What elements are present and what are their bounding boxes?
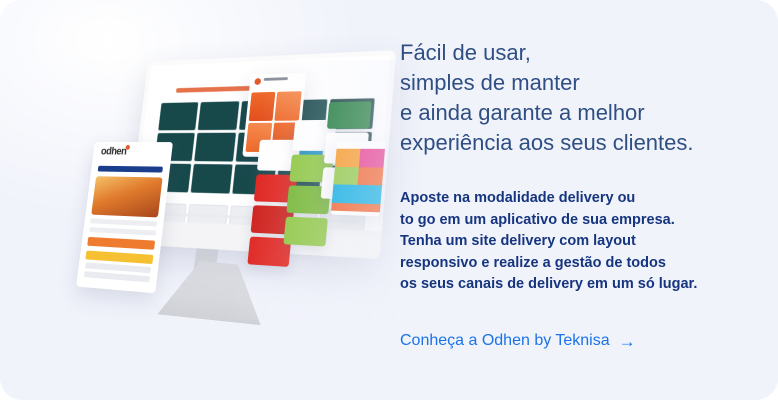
orange-tile xyxy=(274,91,301,121)
phone-app-mockup xyxy=(331,141,386,216)
status-card-green xyxy=(283,217,328,247)
food-photo xyxy=(91,176,162,217)
orange-panel-header xyxy=(249,73,306,90)
brand-mark-icon xyxy=(254,78,261,85)
food-caption-line xyxy=(89,227,156,235)
panel-nav-line xyxy=(84,271,150,282)
order-button xyxy=(87,237,155,250)
paragraph-line-3: Tenha um site delivery com layout xyxy=(400,231,760,253)
menu-panel-mockup: odhen xyxy=(76,142,173,293)
grid-cell xyxy=(198,101,240,130)
secondary-button xyxy=(85,251,153,265)
phone-tile-grid xyxy=(332,149,385,205)
phone-status-bar xyxy=(337,141,386,149)
orange-panel-title xyxy=(264,77,288,81)
grid-cell xyxy=(191,164,233,194)
app-tile xyxy=(357,167,383,186)
odhen-logo-dot xyxy=(125,145,130,150)
headline: Fácil de usar, simples de manter e ainda… xyxy=(400,38,750,158)
odhen-logo: odhen xyxy=(92,142,173,164)
artwork-scene: odhen xyxy=(0,0,400,400)
status-card-dark-green xyxy=(327,101,372,129)
food-caption-line xyxy=(90,218,157,226)
app-tile xyxy=(335,149,360,167)
paragraph-line-2: to go em um aplicativo de sua empresa. xyxy=(400,210,760,232)
app-tile xyxy=(332,185,358,204)
cta-link[interactable]: Conheça a Odhen by Teknisa → xyxy=(400,332,636,350)
phone-footer-bar xyxy=(331,203,380,213)
cta-label: Conheça a Odhen by Teknisa xyxy=(400,332,610,350)
headline-line-3: e ainda garante a melhor xyxy=(400,98,750,128)
arrow-right-icon: → xyxy=(619,333,636,350)
odhen-logo-text: odhen xyxy=(100,147,127,158)
copy-column: Fácil de usar, simples de manter e ainda… xyxy=(400,0,760,400)
headline-line-2: simples de manter xyxy=(400,68,750,98)
app-tile xyxy=(359,149,385,167)
paragraph-line-1: Aposte na modalidade delivery ou xyxy=(400,188,760,210)
orange-tile xyxy=(249,92,276,121)
grid-cell xyxy=(158,102,198,130)
product-artwork: odhen xyxy=(0,0,400,400)
headline-line-1: Fácil de usar, xyxy=(400,38,750,68)
headline-line-4: experiência aos seus clientes. xyxy=(400,128,750,158)
body-paragraph: Aposte na modalidade delivery ou to go e… xyxy=(400,188,760,296)
app-tile xyxy=(333,167,359,186)
promo-banner: odhen xyxy=(0,0,778,400)
monitor-stand-base xyxy=(157,257,266,326)
paragraph-line-4: responsivo e realize a gestão de todos xyxy=(400,253,760,275)
panel-nav-line xyxy=(98,166,163,173)
app-tile xyxy=(356,185,382,204)
paragraph-line-5: os seus canais de delivery em um só luga… xyxy=(400,274,760,296)
grid-cell xyxy=(194,133,236,162)
